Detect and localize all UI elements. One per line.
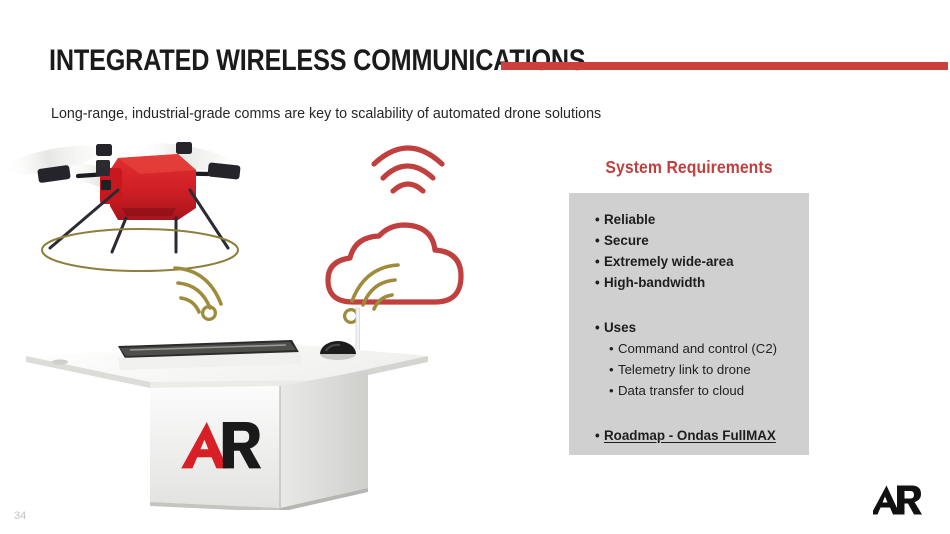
requirement-item: •Reliable [595,212,655,227]
requirement-label: Data transfer to cloud [618,383,744,398]
page-number: 34 [14,510,26,522]
bullet-glyph: • [595,212,604,227]
requirement-item: •Uses [595,320,636,335]
illustration-group [0,130,520,510]
bullet-glyph: • [609,383,618,398]
requirement-label: High-bandwidth [604,275,705,290]
requirement-label: Roadmap - Ondas FullMAX [604,428,776,443]
bullet-glyph: • [609,341,618,356]
requirement-item: •Extremely wide-area [595,254,734,269]
title-accent-rule [501,62,948,70]
ar-corner-logo [873,480,923,520]
requirement-item: •High-bandwidth [595,275,705,290]
page-subtitle: Long-range, industrial-grade comms are k… [51,104,601,124]
wireless-signal-right [345,265,398,322]
drone-landing-ring [42,229,238,271]
drone-docking-station [26,308,428,510]
station-mast-antenna [356,308,359,352]
requirement-label: Command and control (C2) [618,341,777,356]
requirement-item: •Secure [595,233,649,248]
bullet-glyph: • [595,275,604,290]
requirement-label: Secure [604,233,649,248]
requirement-label: Reliable [604,212,655,227]
station-dome-antenna [320,341,356,360]
requirements-panel: •Reliable•Secure•Extremely wide-area•Hig… [569,193,809,455]
requirement-label: Telemetry link to drone [618,362,751,377]
requirement-item: •Data transfer to cloud [609,383,744,398]
bullet-glyph: • [595,428,604,443]
drone-body [96,154,196,220]
red-quadcopter-drone [4,138,241,271]
page-title: INTEGRATED WIRELESS COMMUNICATIONS [49,44,586,78]
requirement-item: •Roadmap - Ondas FullMAX [595,428,776,443]
requirement-label: Uses [604,320,636,335]
bullet-glyph: • [595,233,604,248]
requirement-item: •Command and control (C2) [609,341,777,356]
bullet-glyph: • [595,320,604,335]
bullet-glyph: • [609,362,618,377]
bullet-glyph: • [595,254,604,269]
requirement-label: Extremely wide-area [604,254,734,269]
station-body-side [280,370,368,508]
slide-canvas: INTEGRATED WIRELESS COMMUNICATIONS Long-… [0,0,950,534]
requirements-heading: System Requirements [581,157,797,178]
requirement-item: •Telemetry link to drone [609,362,751,377]
wireless-signal-left [175,268,221,319]
